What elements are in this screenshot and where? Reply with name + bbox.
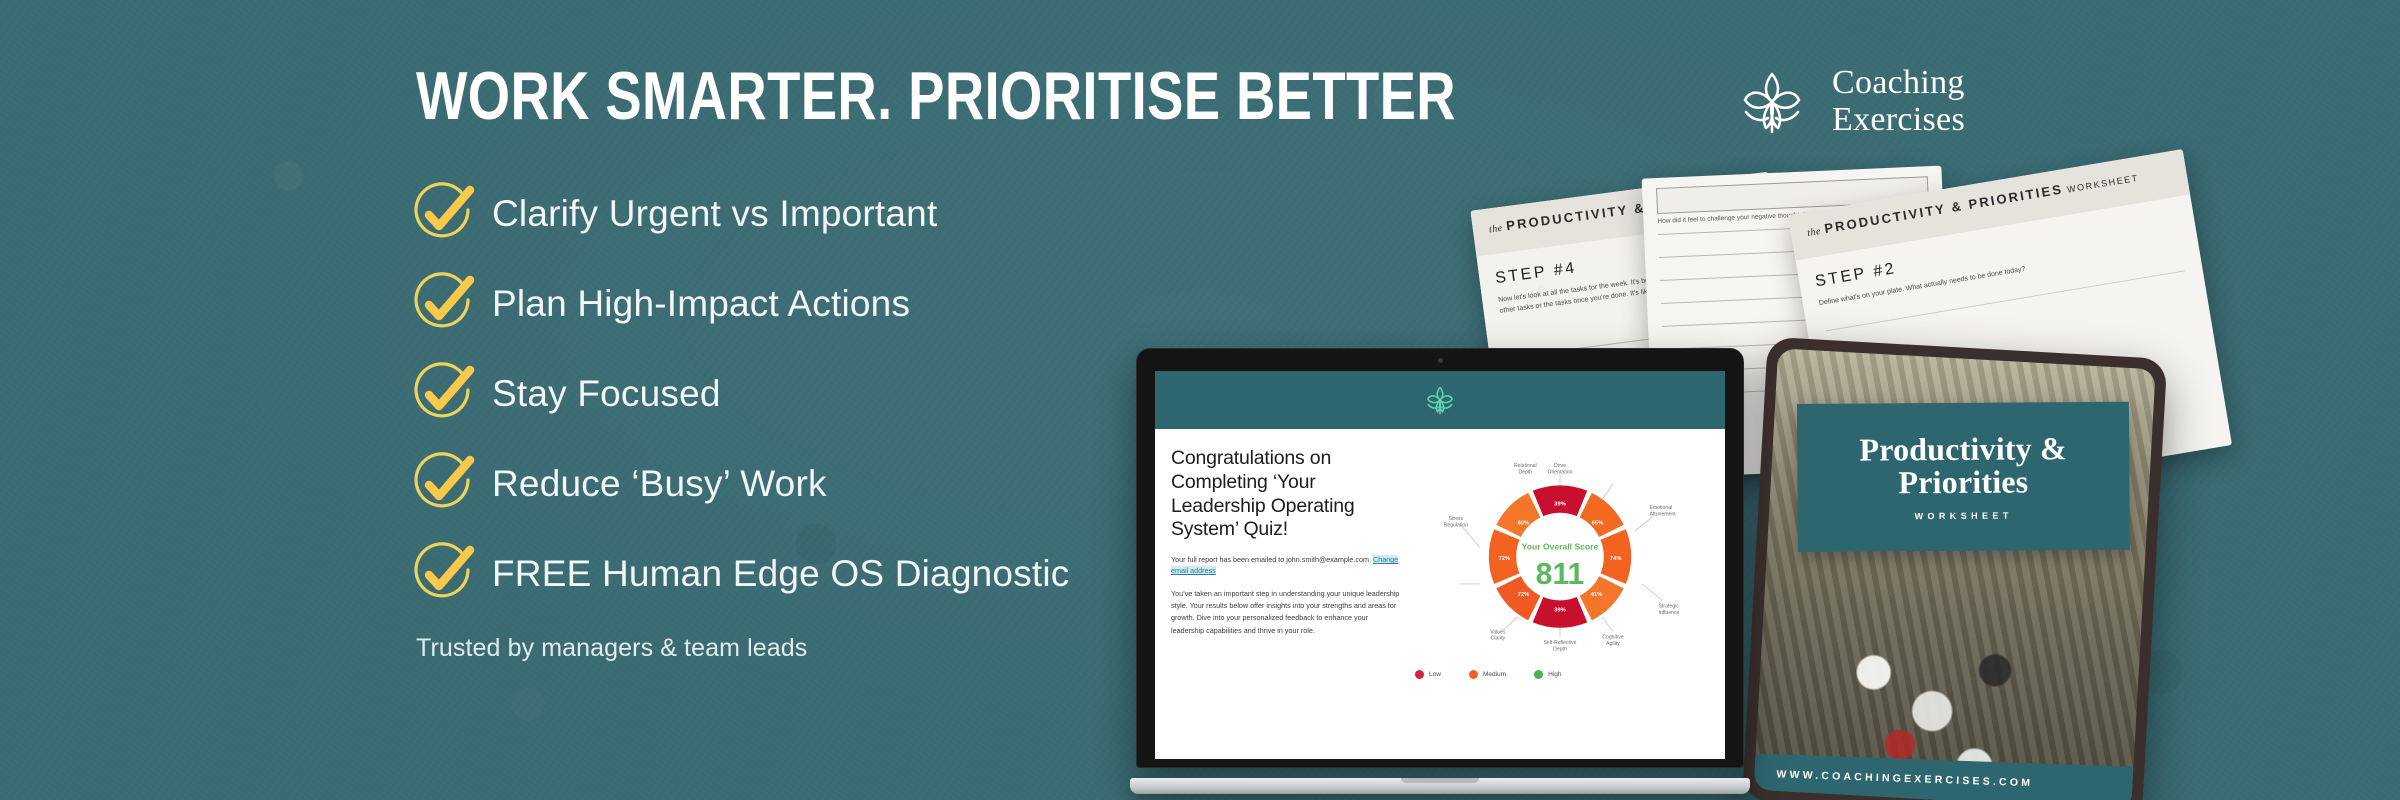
trusted-by-text: Trusted by managers & team leads bbox=[416, 634, 1416, 663]
donut-category-6: StressRegulation bbox=[1444, 516, 1469, 528]
donut-category-7: RelationalDepth bbox=[1514, 463, 1537, 475]
sheet-step-label: STEP #2 bbox=[1814, 260, 1898, 291]
cover-title-line-1: Productivity & bbox=[1859, 430, 2067, 467]
list-item: Reduce ‘Busy’ Work bbox=[416, 454, 1416, 513]
list-item: Clarify Urgent vs Important bbox=[416, 184, 1416, 243]
legend-item-low: Low bbox=[1415, 670, 1441, 679]
check-circle-icon bbox=[404, 356, 480, 432]
promo-banner: WORK SMARTER. PRIORITISE BETTER Clarify … bbox=[0, 0, 2400, 800]
donut-pct-2: 74% bbox=[1610, 556, 1622, 562]
legend-label: High bbox=[1548, 671, 1561, 678]
brand-wordmark: Coaching Exercises bbox=[1832, 65, 1965, 138]
legend-item-high: High bbox=[1534, 670, 1561, 679]
donut-pct-5: 72% bbox=[1518, 592, 1530, 598]
lotus-tree-icon bbox=[1730, 60, 1814, 144]
laptop-trackpad-notch bbox=[1401, 778, 1479, 783]
list-item-label: FREE Human Edge OS Diagnostic bbox=[492, 553, 1070, 595]
legend-label: Low bbox=[1429, 671, 1441, 678]
sheet-title-the: the bbox=[1806, 226, 1821, 239]
donut-pct-1: 65% bbox=[1592, 521, 1604, 527]
list-item-label: Plan High-Impact Actions bbox=[492, 283, 910, 325]
donut-pct-0: 39% bbox=[1554, 501, 1566, 507]
cover-title: Productivity & Priorities bbox=[1859, 432, 2067, 500]
list-item-label: Stay Focused bbox=[492, 373, 721, 415]
chart-legend: Low Medium High bbox=[1411, 662, 1709, 679]
donut-chart: 39% 65% 74% 41% 39% 72% 72% 60% DriveOri… bbox=[1411, 447, 1709, 657]
tablet-frame: Productivity & Priorities WORKSHEET WWW.… bbox=[1742, 337, 2167, 800]
tablet-screen: Productivity & Priorities WORKSHEET WWW.… bbox=[1754, 348, 2156, 800]
page-title: WORK SMARTER. PRIORITISE BETTER bbox=[416, 62, 1216, 130]
copy-block: WORK SMARTER. PRIORITISE BETTER Clarify … bbox=[416, 62, 1416, 663]
sheet-title-the: the bbox=[1488, 223, 1503, 236]
legend-label: Medium bbox=[1483, 671, 1506, 678]
legend-dot-icon bbox=[1415, 670, 1424, 679]
donut-category-4: Self-ReflectiveDepth bbox=[1544, 640, 1577, 652]
donut-pct-7: 60% bbox=[1518, 521, 1530, 527]
webcam-icon bbox=[1438, 358, 1443, 363]
donut-category-5: ValuesClarity bbox=[1490, 629, 1506, 641]
donut-pct-6: 72% bbox=[1498, 556, 1510, 562]
cover-title-line-2: Priorities bbox=[1898, 463, 2028, 500]
sheet-question: How did it feel to challenge your negati… bbox=[1657, 212, 1806, 225]
legend-dot-icon bbox=[1534, 670, 1543, 679]
legend-dot-icon bbox=[1469, 670, 1478, 679]
donut-category-2: StrategicInfluence bbox=[1659, 604, 1680, 616]
brand-logo: Coaching Exercises bbox=[1730, 60, 1965, 144]
donut-category-1: EmotionalAttunement bbox=[1649, 505, 1676, 517]
legend-item-medium: Medium bbox=[1469, 670, 1506, 679]
donut-pct-3: 41% bbox=[1591, 592, 1603, 598]
tablet-mockup: Productivity & Priorities WORKSHEET WWW.… bbox=[1742, 337, 2167, 800]
brand-line-1: Coaching bbox=[1832, 64, 1965, 101]
cover-subtitle: WORKSHEET bbox=[1915, 511, 2013, 522]
list-item-label: Reduce ‘Busy’ Work bbox=[492, 463, 827, 505]
list-item: Stay Focused bbox=[416, 364, 1416, 423]
donut-chart-svg: 39% 65% 74% 41% 39% 72% 72% 60% DriveOri… bbox=[1411, 447, 1709, 657]
worksheet-cover-card: Productivity & Priorities WORKSHEET bbox=[1797, 402, 2130, 552]
benefit-list: Clarify Urgent vs Important Plan High-Im… bbox=[416, 184, 1416, 603]
list-item-label: Clarify Urgent vs Important bbox=[492, 193, 937, 235]
sheet-step-label: STEP #4 bbox=[1494, 260, 1578, 289]
list-item: FREE Human Edge OS Diagnostic bbox=[416, 544, 1416, 603]
brand-line-2: Exercises bbox=[1832, 101, 1965, 138]
check-circle-icon bbox=[404, 536, 480, 612]
check-circle-icon bbox=[404, 446, 480, 522]
score-value: 811 bbox=[1536, 558, 1585, 591]
lotus-tree-icon bbox=[1421, 381, 1459, 419]
donut-category-0: DriveOrientation bbox=[1548, 463, 1573, 475]
score-caption: Your Overall Score bbox=[1522, 541, 1599, 551]
laptop-base bbox=[1130, 778, 1750, 794]
donut-pct-4: 39% bbox=[1554, 607, 1566, 613]
check-circle-icon bbox=[404, 176, 480, 252]
donut-category-3: CognitiveAgility bbox=[1602, 635, 1623, 647]
list-item: Plan High-Impact Actions bbox=[416, 274, 1416, 333]
check-circle-icon bbox=[404, 266, 480, 342]
